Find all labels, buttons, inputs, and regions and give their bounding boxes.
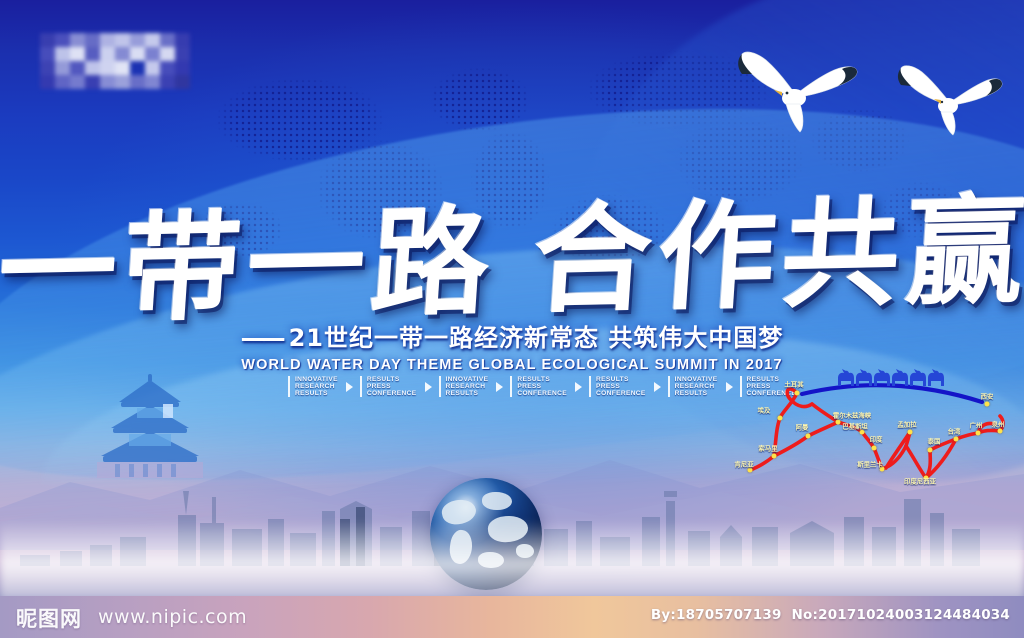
- route-node-dot: [954, 437, 959, 442]
- subtitle-dash: ——: [241, 324, 283, 352]
- route-city-label: 肯尼亚: [734, 460, 753, 469]
- route-city-label: 泉州: [992, 420, 1005, 429]
- route-node-dot: [928, 448, 933, 453]
- blurred-logo-mosaic: [40, 33, 190, 89]
- route-city-label: 印度尼西亚: [904, 477, 936, 486]
- chevron-right-icon: [654, 382, 661, 392]
- process-chip-lines: INNOVATIVERESEARCHRESULTS: [295, 376, 338, 397]
- route-node-dot: [908, 430, 913, 435]
- route-node-dot: [872, 446, 877, 451]
- route-city-label: 泰国: [928, 437, 941, 446]
- process-chip-line: RESULTS: [295, 390, 338, 397]
- camel-caravan-icon: [834, 368, 954, 395]
- route-city-label: 台湾: [948, 427, 961, 436]
- temple-of-heaven-icon: [85, 372, 215, 480]
- route-node-dot: [985, 402, 990, 407]
- seagull-icon-left: [730, 48, 860, 138]
- route-node-dot: [772, 454, 777, 459]
- credit-text: By:18705707139No:20171024003124484034: [641, 607, 1010, 623]
- process-chip-lines: RESULTSPRESSCONFERENCE: [596, 376, 646, 397]
- title-gap: [493, 302, 531, 303]
- process-chip-lines: RESULTSPRESSCONFERENCE: [517, 376, 567, 397]
- process-chip-line: RESULTS: [675, 390, 718, 397]
- watermark-site-name-cn: 昵图网: [16, 603, 82, 633]
- route-city-label: 霍尔木兹海峡: [833, 411, 871, 420]
- process-chip: RESULTSPRESSCONFERENCE: [360, 376, 417, 397]
- process-chip: INNOVATIVERESEARCHRESULTS: [668, 376, 718, 397]
- chevron-right-icon: [575, 382, 582, 392]
- process-chip: INNOVATIVERESEARCHRESULTS: [439, 376, 489, 397]
- chevron-right-icon: [346, 382, 353, 392]
- process-chip-line: CONFERENCE: [367, 390, 417, 397]
- process-chip: INNOVATIVERESEARCHRESULTS: [288, 376, 338, 397]
- route-city-label: 埃及: [758, 406, 771, 415]
- poster-canvas: 一带一路合作共赢 ——21世纪一带一路经济新常态 共筑伟大中国梦 WORLD W…: [0, 0, 1024, 638]
- chevron-right-icon: [425, 382, 432, 392]
- process-chip-line: CONFERENCE: [596, 390, 646, 397]
- route-city-label: 巴基斯坦: [842, 422, 868, 431]
- route-city-label: 阿曼: [796, 423, 809, 432]
- subtitle-chinese: ——21世纪一带一路经济新常态 共筑伟大中国梦: [241, 318, 784, 353]
- title-part-2: 合作共赢: [529, 180, 1024, 329]
- process-chip-lines: INNOVATIVERESEARCHRESULTS: [446, 376, 489, 397]
- route-city-label: 土耳其: [784, 380, 803, 389]
- process-chip-lines: RESULTSPRESSCONFERENCE: [367, 376, 417, 397]
- route-node-dot: [795, 391, 800, 396]
- bottom-haze: [0, 520, 1024, 600]
- subtitle-chinese-text: 21世纪一带一路经济新常态 共筑伟大中国梦: [289, 324, 784, 352]
- credit-no: No:20171024003124484034: [792, 607, 1010, 623]
- route-city-label: 西安: [981, 392, 994, 401]
- chevron-right-icon: [726, 382, 733, 392]
- chevron-right-icon: [496, 382, 503, 392]
- process-chip-lines: INNOVATIVERESEARCHRESULTS: [675, 376, 718, 397]
- route-node-dot: [976, 431, 981, 436]
- route-city-label: 斯里兰卡: [857, 460, 883, 469]
- route-node-dot: [836, 420, 841, 425]
- route-node-dot: [806, 434, 811, 439]
- route-node-dot: [778, 416, 783, 421]
- route-city-label: 索马里: [758, 444, 777, 453]
- silk-road-route-map: 土耳其埃及阿曼索马里肯尼亚霍尔木兹海峡巴基斯坦印度斯里兰卡孟加拉泰国印度尼西亚台…: [742, 366, 1024, 488]
- credit-by: By:18705707139: [651, 607, 782, 623]
- process-chip-line: RESULTS: [446, 390, 489, 397]
- process-chip: RESULTSPRESSCONFERENCE: [510, 376, 567, 397]
- process-chip-line: CONFERENCE: [517, 390, 567, 397]
- process-chip: RESULTSPRESSCONFERENCE: [589, 376, 646, 397]
- route-city-label: 广州: [970, 421, 983, 430]
- watermark-site-url: www.nipic.com: [98, 606, 247, 628]
- footer-watermark-bar: 昵图网 www.nipic.com By:18705707139No:20171…: [0, 596, 1024, 638]
- route-city-label: 孟加拉: [897, 420, 916, 429]
- route-node-dot: [998, 429, 1003, 434]
- route-city-label: 印度: [870, 435, 883, 444]
- seagull-icon-right: [892, 62, 1004, 140]
- process-chip-row: INNOVATIVERESEARCHRESULTSRESULTSPRESSCON…: [288, 376, 802, 397]
- subtitle-block: ——21世纪一带一路经济新常态 共筑伟大中国梦 WORLD WATER DAY …: [0, 318, 1024, 373]
